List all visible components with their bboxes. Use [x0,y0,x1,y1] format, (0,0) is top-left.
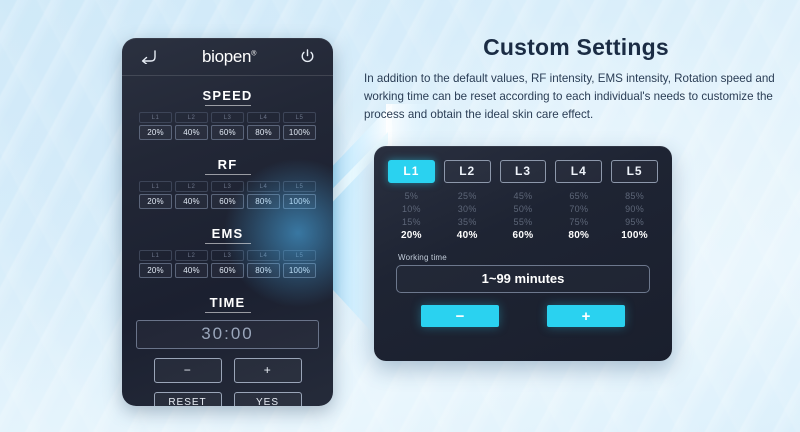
value-option[interactable]: 95% [611,216,658,229]
speed-level-item[interactable]: L240% [175,112,208,140]
level-value: 60% [211,125,244,140]
value-option[interactable]: 15% [388,216,435,229]
page-title: Custom Settings [364,34,788,61]
value-current[interactable]: 100% [611,229,658,242]
level-value: 80% [247,263,280,278]
level-tag: L1 [139,112,172,123]
rf-level-item[interactable]: L240% [175,181,208,209]
value-column-l4: 65% 70% 75% 80% [555,190,602,242]
ems-level-item[interactable]: L360% [211,250,244,278]
level-tag: L1 [139,250,172,261]
value-option[interactable]: 65% [555,190,602,203]
value-column-l1: 5% 10% 15% 20% [388,190,435,242]
working-time-field[interactable]: 1~99 minutes [396,265,650,293]
brand-logo: biopen® [202,47,256,67]
level-value: 20% [139,194,172,209]
working-time-label: Working time [398,253,658,262]
device-panel: biopen® SPEED L120% L240% L360% L480% L5… [122,38,333,406]
value-current[interactable]: 80% [555,229,602,242]
level-value: 40% [175,125,208,140]
yes-button[interactable]: YES [234,392,302,406]
value-column-l5: 85% 90% 95% 100% [611,190,658,242]
section-title-time: TIME [122,295,333,312]
tab-l3[interactable]: L3 [500,160,547,183]
value-option[interactable]: 85% [611,190,658,203]
rf-level-item[interactable]: L5100% [283,181,316,209]
tab-l5[interactable]: L5 [611,160,658,183]
level-value: 60% [211,263,244,278]
level-tag: L4 [247,250,280,261]
level-tag: L3 [211,250,244,261]
level-value: 40% [175,194,208,209]
value-option[interactable]: 10% [388,203,435,216]
timer-adjust-row: − + [122,358,333,383]
speed-level-item[interactable]: L5100% [283,112,316,140]
value-option[interactable]: 30% [444,203,491,216]
timer-plus-button[interactable]: + [234,358,302,383]
ems-level-item[interactable]: L5100% [283,250,316,278]
value-option[interactable]: 75% [555,216,602,229]
working-time-plus-button[interactable]: + [547,305,625,327]
value-option[interactable]: 50% [500,203,547,216]
section-title-rf: RF [122,157,333,174]
value-option[interactable]: 45% [500,190,547,203]
level-value: 20% [139,263,172,278]
value-current[interactable]: 60% [500,229,547,242]
level-tag: L2 [175,112,208,123]
page-description: In addition to the default values, RF in… [364,70,788,124]
value-option[interactable]: 90% [611,203,658,216]
copy-block: Custom Settings In addition to the defau… [364,34,788,124]
level-tag: L3 [211,112,244,123]
value-option[interactable]: 55% [500,216,547,229]
tab-l4[interactable]: L4 [555,160,602,183]
level-value: 100% [283,125,316,140]
level-tag: L5 [283,112,316,123]
speed-level-row: L120% L240% L360% L480% L5100% [122,112,333,140]
level-tag: L4 [247,112,280,123]
value-column-l3: 45% 50% 55% 60% [500,190,547,242]
tab-l2[interactable]: L2 [444,160,491,183]
ems-level-item[interactable]: L120% [139,250,172,278]
working-time-adjust-row: − + [388,305,658,327]
level-value: 40% [175,263,208,278]
level-tag: L2 [175,181,208,192]
speed-level-item[interactable]: L480% [247,112,280,140]
value-option[interactable]: 25% [444,190,491,203]
level-value: 80% [247,194,280,209]
level-tag: L4 [247,181,280,192]
level-value: 100% [283,194,316,209]
device-header: biopen® [122,38,333,76]
level-tag: L5 [283,250,316,261]
section-title-ems: EMS [122,226,333,243]
speed-level-item[interactable]: L120% [139,112,172,140]
value-option[interactable]: 35% [444,216,491,229]
speed-level-item[interactable]: L360% [211,112,244,140]
value-column-l2: 25% 30% 35% 40% [444,190,491,242]
ems-level-row: L120% L240% L360% L480% L5100% [122,250,333,278]
value-option[interactable]: 5% [388,190,435,203]
ems-level-item[interactable]: L240% [175,250,208,278]
level-tag: L2 [175,250,208,261]
rf-level-item[interactable]: L120% [139,181,172,209]
value-current[interactable]: 40% [444,229,491,242]
level-value: 60% [211,194,244,209]
level-value: 20% [139,125,172,140]
level-value: 80% [247,125,280,140]
working-time-minus-button[interactable]: − [421,305,499,327]
rf-level-item[interactable]: L480% [247,181,280,209]
level-tag: L5 [283,181,316,192]
value-current[interactable]: 20% [388,229,435,242]
ems-level-item[interactable]: L480% [247,250,280,278]
value-option[interactable]: 70% [555,203,602,216]
rf-level-row: L120% L240% L360% L480% L5100% [122,181,333,209]
level-tag: L3 [211,181,244,192]
device-action-row: RESET YES [122,392,333,406]
level-tabs: L1 L2 L3 L4 L5 [388,160,658,183]
timer-display: 30:00 [136,320,319,349]
level-value-columns: 5% 10% 15% 20% 25% 30% 35% 40% 45% 50% 5… [388,190,658,242]
reset-button[interactable]: RESET [154,392,222,406]
level-tag: L1 [139,181,172,192]
tab-l1[interactable]: L1 [388,160,435,183]
power-icon[interactable] [300,49,315,64]
level-value: 100% [283,263,316,278]
timer-minus-button[interactable]: − [154,358,222,383]
section-title-speed: SPEED [122,88,333,105]
custom-settings-panel: L1 L2 L3 L4 L5 5% 10% 15% 20% 25% 30% 35… [374,146,672,361]
back-arrow-icon[interactable] [140,50,158,64]
rf-level-item[interactable]: L360% [211,181,244,209]
